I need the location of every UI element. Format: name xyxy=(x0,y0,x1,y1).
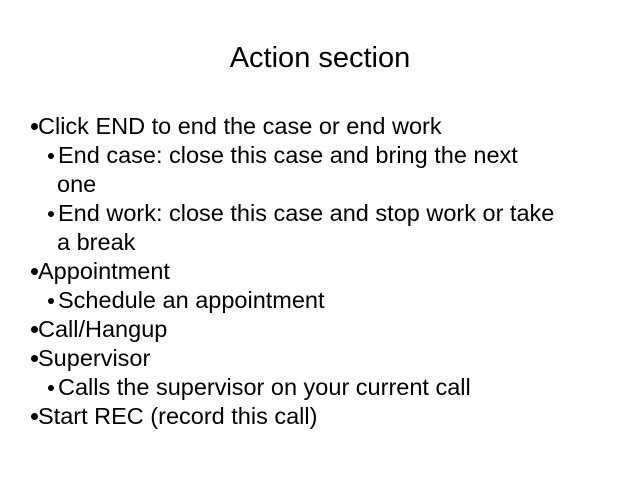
bullet-item-level2: End work: close this case and stop work … xyxy=(28,199,620,228)
bullet-item-level1: Call/Hangup xyxy=(28,315,620,344)
bullet-dot-icon xyxy=(31,355,38,362)
bullet-text: Schedule an appointment xyxy=(58,287,325,313)
bullet-dot-icon xyxy=(48,385,54,391)
bullet-text: Start REC (record this call) xyxy=(38,403,317,429)
bullet-text: Supervisor xyxy=(38,345,150,371)
page-title: Action section xyxy=(0,41,640,75)
bullet-dot-icon xyxy=(48,211,54,217)
slide-body: Click END to end the case or end work En… xyxy=(28,112,620,431)
bullet-wrap-line: one xyxy=(28,170,620,199)
bullet-wrap-line: a break xyxy=(28,228,620,257)
bullet-text: Call/Hangup xyxy=(38,316,167,342)
bullet-dot-icon xyxy=(31,123,38,130)
bullet-text: a break xyxy=(57,229,135,255)
slide: Action section Click END to end the case… xyxy=(0,0,640,480)
bullet-text: End case: close this case and bring the … xyxy=(58,142,518,168)
bullet-item-level1: Start REC (record this call) xyxy=(28,402,620,431)
bullet-dot-icon xyxy=(31,413,38,420)
bullet-dot-icon xyxy=(48,298,54,304)
bullet-item-level2: Schedule an appointment xyxy=(28,286,620,315)
bullet-item-level1: Supervisor xyxy=(28,344,620,373)
bullet-text: one xyxy=(57,171,96,197)
bullet-item-level2: End case: close this case and bring the … xyxy=(28,141,620,170)
bullet-item-level2: Calls the supervisor on your current cal… xyxy=(28,373,620,402)
bullet-dot-icon xyxy=(31,268,38,275)
bullet-text: Appointment xyxy=(38,258,170,284)
bullet-item-level1: Appointment xyxy=(28,257,620,286)
bullet-text: Click END to end the case or end work xyxy=(38,113,442,139)
bullet-text: End work: close this case and stop work … xyxy=(58,200,554,226)
bullet-dot-icon xyxy=(31,326,38,333)
bullet-text: Calls the supervisor on your current cal… xyxy=(58,374,471,400)
bullet-dot-icon xyxy=(48,153,54,159)
bullet-item-level1: Click END to end the case or end work xyxy=(28,112,620,141)
